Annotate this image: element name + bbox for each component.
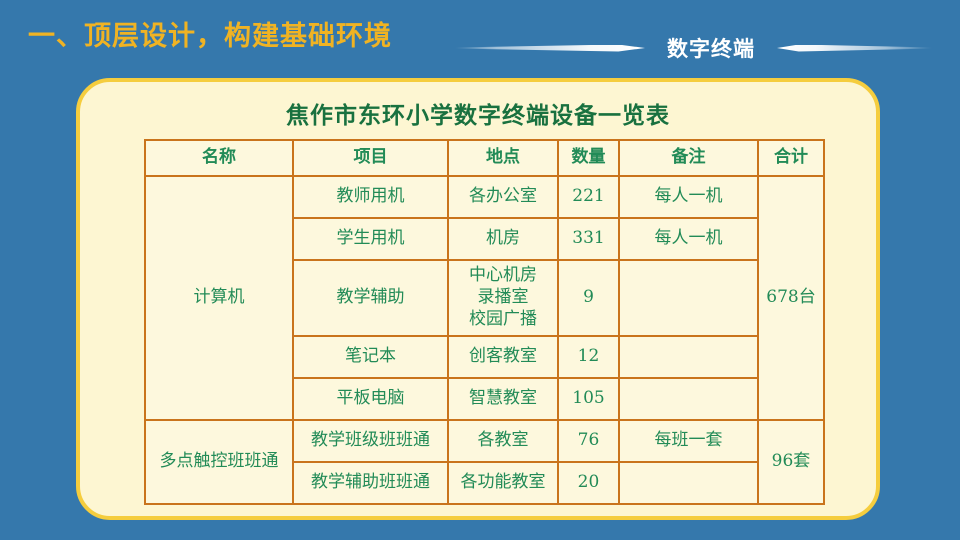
table-cell-item: 学生用机 <box>293 218 448 260</box>
table-title: 焦作市东环小学数字终端设备一览表 <box>80 96 876 130</box>
table-cell-note <box>619 462 758 504</box>
table-cell-item: 教学辅助 <box>293 260 448 336</box>
content-card: 焦作市东环小学数字终端设备一览表 名称 项目 地点 数量 备注 合计 <box>76 78 880 520</box>
arrow-line-right-icon <box>777 45 932 52</box>
table-cell-place: 机房 <box>448 218 558 260</box>
table-cell-note <box>619 336 758 378</box>
table-cell-note <box>619 378 758 420</box>
table-cell-item: 笔记本 <box>293 336 448 378</box>
table-cell-place: 各功能教室 <box>448 462 558 504</box>
table-header-row: 名称 项目 地点 数量 备注 合计 <box>145 140 824 176</box>
table-header-note: 备注 <box>619 140 758 176</box>
table-header-place: 地点 <box>448 140 558 176</box>
table-row: 计算机教师用机各办公室221每人一机678台 <box>145 176 824 218</box>
table-header-total: 合计 <box>758 140 824 176</box>
table-cell-name: 计算机 <box>145 176 293 420</box>
table-cell-place: 智慧教室 <box>448 378 558 420</box>
table-cell-qty: 76 <box>558 420 619 462</box>
arrow-line-left-icon <box>455 45 645 52</box>
table-cell-place: 中心机房录播室校园广播 <box>448 260 558 336</box>
table-header-qty: 数量 <box>558 140 619 176</box>
table-cell-note <box>619 260 758 336</box>
slide-root: 一、顶层设计，构建基础环境 数字终端 焦作市东环小学数字终端设备一览表 名称 项… <box>0 0 960 540</box>
page-title: 一、顶层设计，构建基础环境 <box>28 14 392 53</box>
table-cell-place: 各办公室 <box>448 176 558 218</box>
table-cell-qty: 105 <box>558 378 619 420</box>
table-cell-item: 平板电脑 <box>293 378 448 420</box>
table-cell-item: 教学班级班班通 <box>293 420 448 462</box>
table-row: 多点触控班班通教学班级班班通各教室76每班一套96套 <box>145 420 824 462</box>
table-cell-note: 每人一机 <box>619 218 758 260</box>
section-tag-label: 数字终端 <box>645 33 777 63</box>
table-cell-qty: 331 <box>558 218 619 260</box>
table-cell-place: 各教室 <box>448 420 558 462</box>
table-cell-name: 多点触控班班通 <box>145 420 293 504</box>
table-header-item: 项目 <box>293 140 448 176</box>
table-body: 计算机教师用机各办公室221每人一机678台学生用机机房331每人一机教学辅助中… <box>145 176 824 504</box>
device-table-wrapper: 名称 项目 地点 数量 备注 合计 计算机教师用机各办公室221每人一机678台… <box>144 139 823 505</box>
table-cell-qty: 9 <box>558 260 619 336</box>
table-cell-qty: 20 <box>558 462 619 504</box>
section-tag-group: 数字终端 <box>455 30 960 66</box>
table-cell-item: 教学辅助班班通 <box>293 462 448 504</box>
table-cell-item: 教师用机 <box>293 176 448 218</box>
device-table: 名称 项目 地点 数量 备注 合计 计算机教师用机各办公室221每人一机678台… <box>144 139 825 505</box>
table-cell-qty: 12 <box>558 336 619 378</box>
table-header-name: 名称 <box>145 140 293 176</box>
table-cell-total: 678台 <box>758 176 824 420</box>
table-cell-total: 96套 <box>758 420 824 504</box>
table-cell-place: 创客教室 <box>448 336 558 378</box>
table-cell-note: 每人一机 <box>619 176 758 218</box>
table-cell-note: 每班一套 <box>619 420 758 462</box>
table-cell-qty: 221 <box>558 176 619 218</box>
